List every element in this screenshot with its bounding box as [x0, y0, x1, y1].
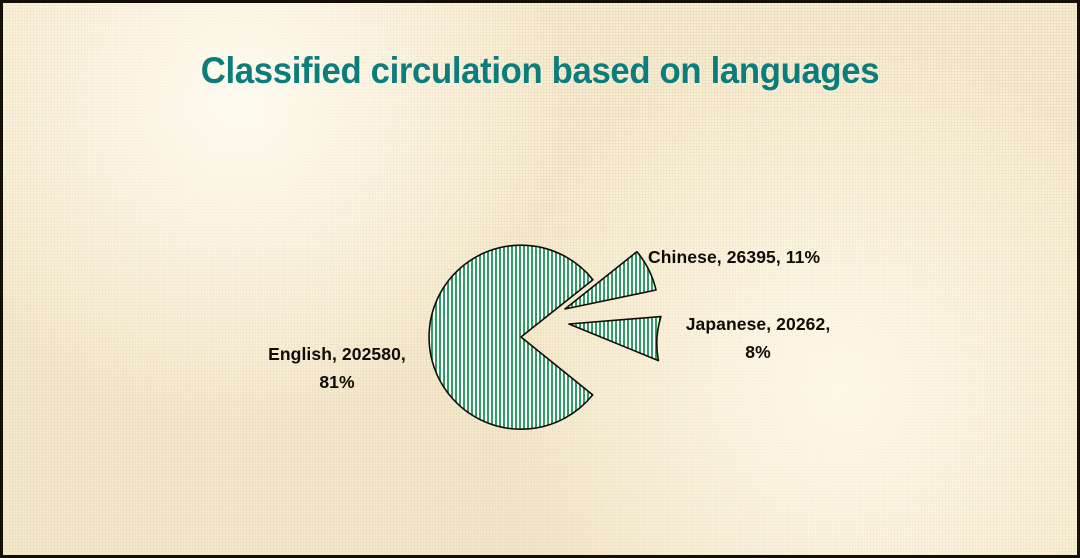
pie-label-english: English, 202580, 81%: [231, 340, 443, 397]
pie-slice-english[interactable]: [429, 245, 593, 429]
pie-label-chinese: Chinese, 26395, 11%: [648, 243, 878, 271]
pie-chart-svg: [3, 3, 1080, 558]
pie-slice-japanese[interactable]: [569, 317, 661, 361]
slide-canvas: Classified circulation based on language…: [0, 0, 1080, 558]
pie-label-japanese: Japanese, 20262, 8%: [658, 310, 858, 367]
pie-chart-plot-area: English, 202580, 81% Chinese, 26395, 11%…: [3, 3, 1080, 558]
